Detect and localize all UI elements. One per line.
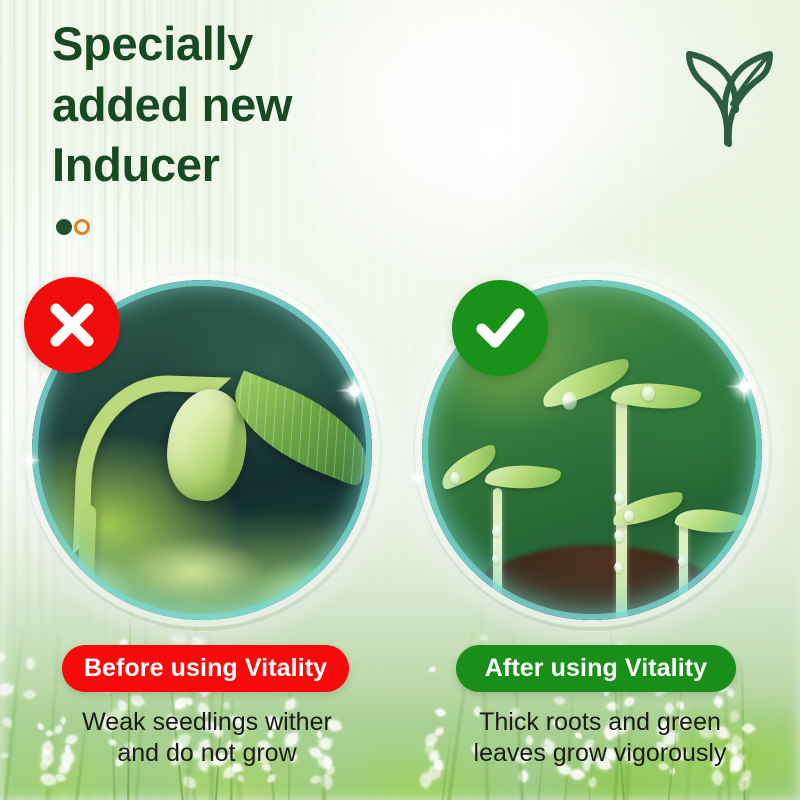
leaf-icon: [680, 40, 776, 160]
before-caption: Weak seedlings wither and do not grow: [37, 707, 377, 769]
ring-dot-icon: [74, 219, 90, 235]
headline-line-3: Inducer: [52, 135, 482, 196]
sprout-small-left: [442, 450, 552, 620]
cross-badge: [24, 277, 120, 373]
before-label-text: Before using Vitality: [84, 654, 327, 683]
accent-dot-mark: [56, 219, 90, 235]
after-caption: Thick roots and green leaves grow vigoro…: [430, 707, 770, 769]
solid-dot-icon: [56, 219, 72, 235]
page-title: Specially added new Inducer: [52, 14, 482, 196]
promo-poster: Specially added new Inducer: [0, 0, 800, 800]
headline-line-1: Specially: [52, 14, 482, 75]
before-caption-line-1: Weak seedlings wither: [37, 707, 377, 738]
check-badge: [452, 280, 548, 376]
before-caption-line-2: and do not grow: [37, 738, 377, 769]
after-label-pill: After using Vitality: [456, 645, 736, 692]
after-caption-line-2: leaves grow vigorously: [430, 738, 770, 769]
before-label-pill: Before using Vitality: [62, 645, 349, 692]
headline-line-2: added new: [52, 75, 482, 136]
cross-icon: [43, 296, 101, 354]
check-icon: [471, 299, 529, 357]
after-label-text: After using Vitality: [485, 654, 707, 683]
sprout-small-right: [618, 492, 748, 620]
after-caption-line-1: Thick roots and green: [430, 707, 770, 738]
